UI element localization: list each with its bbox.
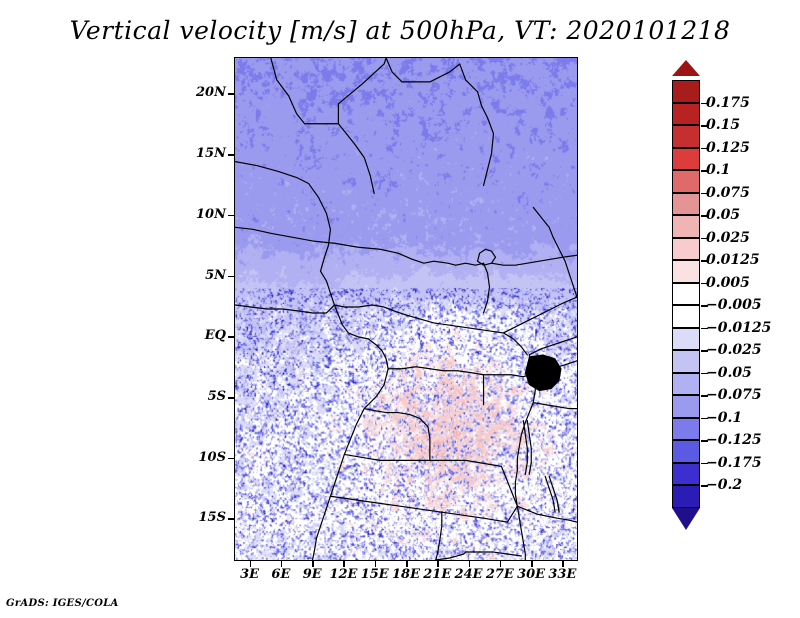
longitude-tick (562, 561, 564, 567)
longitude-label: 33E (542, 567, 582, 582)
colorbar-label: 0.005 (706, 275, 750, 291)
colorbar-swatch (672, 418, 700, 441)
colorbar-label: 0.15 (706, 117, 740, 133)
longitude-tick (406, 561, 408, 567)
latitude-tick (228, 336, 234, 338)
latitude-tick (228, 93, 234, 95)
colorbar-swatch (672, 283, 700, 306)
colorbar-label: 0.025 (706, 230, 750, 246)
colorbar-swatch (672, 373, 700, 396)
colorbar-label: 0.175 (706, 95, 750, 111)
colorbar-label: −0.0125 (706, 320, 771, 336)
map-plot-area (234, 57, 578, 561)
colorbar-label: −0.05 (706, 365, 752, 381)
latitude-tick (228, 397, 234, 399)
colorbar-label: −0.005 (706, 297, 762, 313)
colorbar-swatch (672, 103, 700, 126)
colorbar-swatch (672, 350, 700, 373)
latitude-label: 15N (186, 146, 226, 161)
longitude-tick (312, 561, 314, 567)
longitude-tick (343, 561, 345, 567)
colorbar-swatch (672, 260, 700, 283)
colorbar-label: 0.075 (706, 185, 750, 201)
latitude-label: EQ (186, 328, 226, 343)
latitude-label: 20N (186, 85, 226, 100)
latitude-tick (228, 458, 234, 460)
colorbar-label: 0.0125 (706, 252, 760, 268)
latitude-label: 15S (186, 510, 226, 525)
colorbar-label: −0.1 (706, 410, 742, 426)
longitude-tick (437, 561, 439, 567)
colorbar-swatch (672, 148, 700, 171)
longitude-tick (281, 561, 283, 567)
colorbar-max-arrow (672, 60, 700, 76)
country-borders-overlay (235, 58, 577, 560)
latitude-label: 10N (186, 207, 226, 222)
colorbar-swatch (672, 395, 700, 418)
colorbar-label: −0.075 (706, 387, 762, 403)
colorbar-label: 0.05 (706, 207, 740, 223)
colorbar-label: −0.2 (706, 477, 742, 493)
colorbar-swatch (672, 305, 700, 328)
colorbar-swatch (672, 485, 700, 508)
longitude-tick (375, 561, 377, 567)
colorbar-swatch (672, 170, 700, 193)
longitude-tick (250, 561, 252, 567)
colorbar-label: 0.1 (706, 162, 730, 178)
latitude-label: 5S (186, 389, 226, 404)
colorbar-swatch (672, 125, 700, 148)
colorbar-swatch (672, 238, 700, 261)
colorbar: 0.1750.150.1250.10.0750.050.0250.01250.0… (672, 60, 702, 552)
colorbar-swatch (672, 215, 700, 238)
colorbar-label: 0.125 (706, 140, 750, 156)
latitude-tick (228, 518, 234, 520)
latitude-tick (228, 215, 234, 217)
colorbar-label: −0.125 (706, 432, 762, 448)
latitude-label: 10S (186, 450, 226, 465)
colorbar-min-arrow (672, 508, 700, 530)
longitude-tick (469, 561, 471, 567)
longitude-tick (500, 561, 502, 567)
colorbar-label: −0.025 (706, 342, 762, 358)
longitude-tick (531, 561, 533, 567)
colorbar-swatch (672, 463, 700, 486)
latitude-tick (228, 154, 234, 156)
colorbar-label: −0.175 (706, 455, 762, 471)
colorbar-swatch (672, 193, 700, 216)
latitude-label: 5N (186, 268, 226, 283)
colorbar-swatch (672, 440, 700, 463)
colorbar-swatch (672, 80, 700, 103)
page-title: Vertical velocity [m/s] at 500hPa, VT: 2… (0, 16, 800, 45)
colorbar-swatch (672, 328, 700, 351)
latitude-tick (228, 276, 234, 278)
credit-text: GrADS: IGES/COLA (6, 598, 119, 609)
